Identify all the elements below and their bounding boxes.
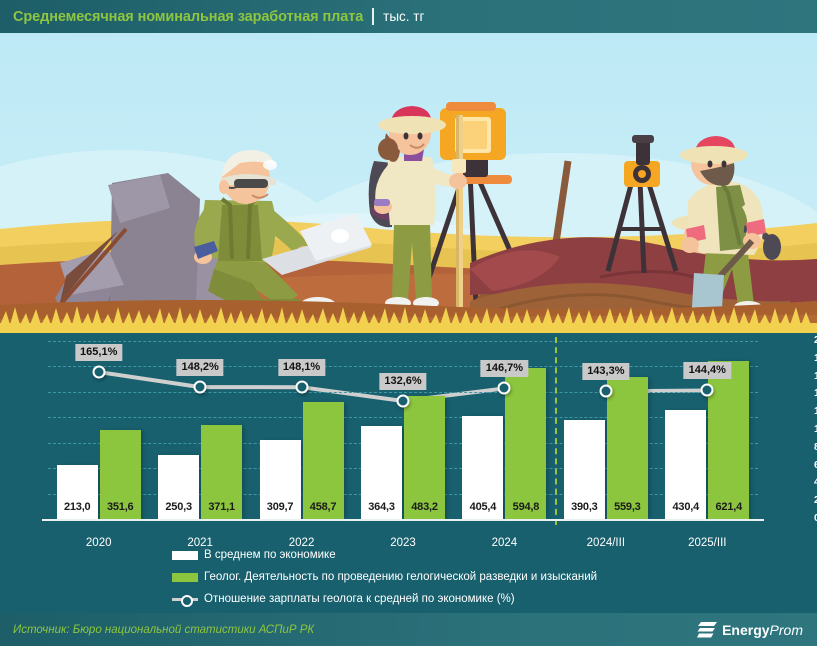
- legend-item-economy: В среднем по экономике: [172, 547, 336, 563]
- ratio-value-label: 146,7%: [481, 360, 528, 377]
- bar-value-label: 351,6: [100, 501, 141, 513]
- bar-econ: 430,4: [665, 410, 706, 519]
- ratio-value-label: 148,1%: [278, 359, 325, 376]
- bar-geo: 458,7: [303, 402, 344, 519]
- header-divider: [372, 8, 374, 25]
- ratio-value-label: 143,3%: [582, 363, 629, 380]
- bar-value-label: 594,8: [505, 501, 546, 513]
- bar-geo: 621,4: [708, 361, 749, 519]
- ratio-point-marker: [498, 382, 511, 395]
- logo-bold: Energy: [722, 622, 769, 638]
- legend-label-geology: Геолог. Деятельность по проведению гелог…: [204, 571, 597, 583]
- x-axis-line: [42, 519, 764, 521]
- bar-value-label: 621,4: [708, 501, 749, 513]
- gridline: [48, 366, 758, 367]
- ratio-value-label: 132,6%: [379, 373, 426, 390]
- bar-value-label: 371,1: [201, 501, 242, 513]
- ratio-value-label: 165,1%: [75, 344, 122, 361]
- page-title: Среднемесячная номинальная заработная пл…: [13, 9, 363, 25]
- bar-geo: 594,8: [505, 368, 546, 519]
- bar-econ: 250,3: [158, 455, 199, 519]
- ratio-value-label: 144,4%: [684, 362, 731, 379]
- legend-swatch-white: [172, 551, 198, 560]
- legend-item-ratio: Отношение зарплаты геолога к средней по …: [172, 591, 515, 607]
- legend-swatch-green: [172, 573, 198, 582]
- gridline: [48, 417, 758, 418]
- bar-econ: 364,3: [361, 426, 402, 519]
- bar-value-label: 559,3: [607, 501, 648, 513]
- bar-econ: 390,3: [564, 420, 605, 519]
- infographic-page: Среднемесячная номинальная заработная пл…: [0, 0, 817, 646]
- gridline: [48, 341, 758, 342]
- header-unit-label: тыс. тг: [383, 9, 424, 24]
- ratio-point-marker: [92, 366, 105, 379]
- header-bar: Среднемесячная номинальная заработная пл…: [0, 0, 817, 33]
- bar-value-label: 405,4: [462, 501, 503, 513]
- plot-area: 0,0100,0200,0300,0400,0500,0600,0700,00,…: [48, 341, 758, 519]
- bar-geo: 351,6: [100, 430, 141, 519]
- bar-value-label: 250,3: [158, 501, 199, 513]
- energyprom-logo: EnergyProm: [697, 621, 803, 639]
- footer-bar: Источник: Бюро национальной статистики А…: [0, 613, 817, 646]
- bar-value-label: 309,7: [260, 501, 301, 513]
- legend-label-economy: В среднем по экономике: [204, 549, 336, 561]
- ratio-point-marker: [599, 385, 612, 398]
- ratio-point-marker: [295, 381, 308, 394]
- ratio-point-marker: [194, 381, 207, 394]
- bar-value-label: 430,4: [665, 501, 706, 513]
- bar-geo: 559,3: [607, 377, 648, 519]
- legend-item-geology: Геолог. Деятельность по проведению гелог…: [172, 569, 597, 585]
- bar-value-label: 390,3: [564, 501, 605, 513]
- legend-swatch-line: [172, 594, 198, 604]
- hero-illustration: [0, 33, 817, 333]
- bar-value-label: 458,7: [303, 501, 344, 513]
- ratio-value-label: 148,2%: [176, 359, 223, 376]
- bar-econ: 405,4: [462, 416, 503, 519]
- source-note: Источник: Бюро национальной статистики А…: [13, 624, 314, 636]
- bar-geo: 371,1: [201, 425, 242, 519]
- ratio-point-marker: [397, 394, 410, 407]
- gridline: [48, 443, 758, 444]
- gridline: [48, 468, 758, 469]
- ratio-line-series: [48, 341, 758, 519]
- bar-value-label: 364,3: [361, 501, 402, 513]
- period-divider: [555, 337, 557, 525]
- chart: 0,0100,0200,0300,0400,0500,0600,0700,00,…: [0, 333, 817, 545]
- logo-text: EnergyProm: [722, 622, 803, 638]
- bar-value-label: 213,0: [57, 501, 98, 513]
- bar-econ: 309,7: [260, 440, 301, 519]
- bar-econ: 213,0: [57, 465, 98, 519]
- gridline: [48, 392, 758, 393]
- ratio-point-marker: [701, 384, 714, 397]
- energyprom-mark: [697, 621, 717, 639]
- bar-value-label: 483,2: [404, 501, 445, 513]
- logo-light: Prom: [770, 622, 803, 638]
- legend-label-ratio: Отношение зарплаты геолога к средней по …: [204, 593, 515, 605]
- bar-geo: 483,2: [404, 396, 445, 519]
- chart-legend: В среднем по экономике Геолог. Деятельно…: [0, 545, 817, 613]
- gridline: [48, 494, 758, 495]
